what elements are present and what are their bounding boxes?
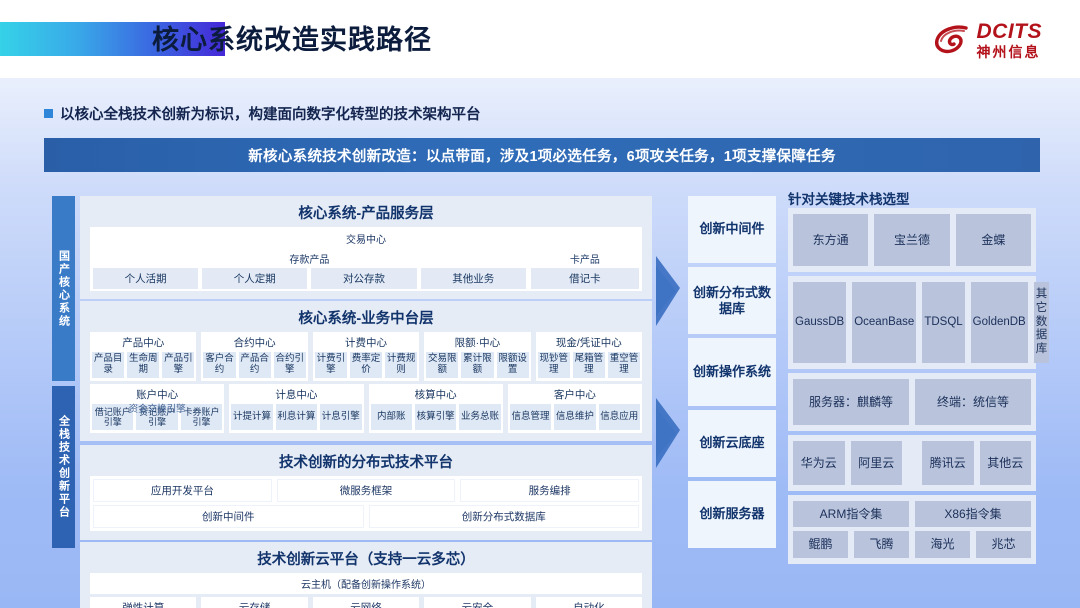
innovation-target-box[interactable]: 创新云底座 xyxy=(688,410,776,477)
tech-stack-cell[interactable]: 飞腾 xyxy=(854,531,909,557)
dist-platform-item[interactable]: 创新中间件 xyxy=(93,505,364,528)
product-service-layer: 核心系统-产品服务层 交易中心 存款产品 个人活期个人定期对公存款其他业务 卡产… xyxy=(80,196,652,299)
business-center-item[interactable]: 产品引擎 xyxy=(162,352,194,378)
business-center[interactable]: 现金/凭证中心现钞管理尾箱管理重空管理 xyxy=(536,332,642,381)
card-item[interactable]: 借记卡 xyxy=(531,268,639,289)
cloud-band: 华为云阿里云腾讯云其他云 xyxy=(788,435,1036,491)
business-center-title: 现金/凭证中心 xyxy=(538,334,640,352)
innovation-target-box[interactable]: 创新操作系统 xyxy=(688,338,776,405)
business-center-item[interactable]: 内部账 xyxy=(371,404,412,430)
business-center-item[interactable]: 核算引擎 xyxy=(415,404,456,430)
tech-stack-cell[interactable]: 鲲鹏 xyxy=(793,531,848,557)
middleware-band: 东方通宝兰德金蝶 xyxy=(788,208,1036,272)
flow-arrow-bottom xyxy=(654,392,690,474)
deposit-item[interactable]: 个人活期 xyxy=(93,268,198,289)
logo-en-text: DCITS xyxy=(977,21,1043,42)
business-center-item[interactable]: 现钞管理 xyxy=(538,352,570,378)
business-center-item[interactable]: 累计限额 xyxy=(461,352,493,378)
business-center-item[interactable]: 信息维护 xyxy=(554,404,595,430)
cloud-row-spacer xyxy=(908,441,916,485)
business-center-item[interactable]: 利息计算 xyxy=(276,404,317,430)
dcits-logo: DCITS 神州信息 xyxy=(933,18,1043,62)
distributed-tech-platform-body: 应用开发平台微服务框架服务编排 创新中间件创新分布式数据库 xyxy=(90,476,642,531)
tech-stack-cell[interactable]: 服务器：麒麟等 xyxy=(793,379,909,425)
tech-stack-cell[interactable]: 阿里云 xyxy=(851,441,903,485)
tech-stack-cell[interactable]: GoldenDB xyxy=(971,282,1028,363)
business-center-row-2: 账户中心借记账户引擎贷记账户引擎卡券账户引擎资金交换引擎计息中心计提计算利息计算… xyxy=(90,384,642,433)
deposit-product-group: 存款产品 个人活期个人定期对公存款其他业务 xyxy=(93,250,526,289)
business-center[interactable]: 计费中心计费引擎费率定价计费规则 xyxy=(313,332,419,381)
business-center[interactable]: 客户中心信息管理信息维护信息应用 xyxy=(508,384,642,433)
database-band: GaussDBOceanBaseTDSQLGoldenDB其它数据库 xyxy=(788,276,1036,369)
business-center-item[interactable]: 重空管理 xyxy=(608,352,640,378)
business-middle-layer-title: 核心系统-业务中台层 xyxy=(80,304,652,332)
business-middle-layer: 核心系统-业务中台层 产品中心产品目录生命周期产品引擎合约中心客户合约产品合约合… xyxy=(80,301,652,441)
business-center-item[interactable]: 合约引擎 xyxy=(274,352,306,378)
tech-stack-selection-column: 东方通宝兰德金蝶 GaussDBOceanBaseTDSQLGoldenDB其它… xyxy=(788,208,1036,548)
tech-stack-cell[interactable]: 宝兰德 xyxy=(874,214,949,266)
tech-stack-cell[interactable]: 华为云 xyxy=(793,441,845,485)
tech-stack-cell[interactable]: ARM指令集 xyxy=(793,501,909,527)
business-center-item[interactable]: 计提计算 xyxy=(231,404,272,430)
business-center-item[interactable]: 产品目录 xyxy=(92,352,124,378)
cloud-platform-section: 技术创新云平台（支持一云多芯） 云主机（配备创新操作系统） 弹性计算云存储云网络… xyxy=(80,542,652,608)
left-architecture-panel: 国产核心系统 全栈技术创新平台 核心系统-产品服务层 交易中心 存款产品 个人活… xyxy=(52,196,652,548)
business-center-title: 计息中心 xyxy=(231,386,361,404)
server-band: ARM指令集X86指令集 鲲鹏飞腾海光兆芯 xyxy=(788,495,1036,564)
section-bullet: 以核心全栈技术创新为标识，构建面向数字化转型的技术架构平台 xyxy=(44,103,481,124)
card-group-title: 卡产品 xyxy=(531,250,639,268)
business-center-item[interactable]: 计费引擎 xyxy=(315,352,347,378)
business-center-item[interactable]: 限额设置 xyxy=(497,352,529,378)
innovation-target-box[interactable]: 创新中间件 xyxy=(688,196,776,263)
innovation-targets-column: 创新中间件创新分布式数据库创新操作系统创新云底座创新服务器 xyxy=(688,196,776,548)
cloud-item[interactable]: 云安全 xyxy=(424,597,530,608)
distributed-tech-platform-title: 技术创新的分布式技术平台 xyxy=(80,448,652,476)
swoosh-icon xyxy=(933,21,971,59)
business-center-item[interactable]: 卡券账户引擎 xyxy=(181,404,222,430)
cloud-platform-title: 技术创新云平台（支持一云多芯） xyxy=(80,545,652,573)
business-center-item[interactable]: 尾箱管理 xyxy=(573,352,605,378)
os-band: 服务器：麒麟等终端：统信等 xyxy=(788,373,1036,431)
business-center-title: 限额·中心 xyxy=(426,334,528,352)
tech-stack-cell[interactable]: OceanBase xyxy=(852,282,916,363)
banner-text: 新核心系统技术创新改造：以点带面，涉及1项必选任务，6项攻关任务，1项支撑保障任… xyxy=(248,145,836,166)
business-center-title: 计费中心 xyxy=(315,334,417,352)
page-header: 核心系统改造实践路径 DCITS 神州信息 xyxy=(0,0,1080,78)
sidebar-label-fullstack-platform: 全栈技术创新平台 xyxy=(52,386,75,548)
business-center[interactable]: 产品中心产品目录生命周期产品引擎 xyxy=(90,332,196,381)
deposit-group-title: 存款产品 xyxy=(93,250,526,268)
card-product-group: 卡产品 借记卡 xyxy=(531,250,639,289)
tech-stack-cell[interactable]: 腾讯云 xyxy=(922,441,974,485)
business-center-item[interactable]: 信息应用 xyxy=(599,404,640,430)
sidebar-label-core-system: 国产核心系统 xyxy=(52,196,75,381)
cloud-item[interactable]: 弹性计算 xyxy=(90,597,196,608)
deposit-item[interactable]: 个人定期 xyxy=(202,268,307,289)
deposit-item[interactable]: 其他业务 xyxy=(421,268,526,289)
dist-platform-item[interactable]: 服务编排 xyxy=(460,479,639,502)
sidebar-label-core-system-text: 国产核心系统 xyxy=(56,250,72,328)
business-center[interactable]: 计息中心计提计算利息计算计息引擎 xyxy=(229,384,363,433)
tech-stack-cell[interactable]: 金蝶 xyxy=(956,214,1031,266)
business-center-item[interactable]: 生命周期 xyxy=(127,352,159,378)
business-center-title: 核算中心 xyxy=(371,386,501,404)
business-center[interactable]: 限额·中心交易限额累计限额限额设置 xyxy=(424,332,530,381)
tech-stack-cell[interactable]: TDSQL xyxy=(922,282,964,363)
tech-stack-cell[interactable]: 其它数据库 xyxy=(1034,282,1050,363)
tech-stack-cell[interactable]: 兆芯 xyxy=(976,531,1031,557)
business-center[interactable]: 核算中心内部账核算引擎业务总账 xyxy=(369,384,503,433)
business-center-item[interactable]: 客户合约 xyxy=(203,352,235,378)
business-center-item[interactable]: 借记账户引擎 xyxy=(92,404,133,430)
dist-platform-item[interactable]: 微服务框架 xyxy=(277,479,456,502)
dist-platform-item[interactable]: 创新分布式数据库 xyxy=(369,505,640,528)
tech-stack-cell[interactable]: 终端：统信等 xyxy=(915,379,1031,425)
innovation-target-box[interactable]: 创新分布式数据库 xyxy=(688,267,776,334)
deposit-item[interactable]: 对公存款 xyxy=(311,268,416,289)
business-center-title: 客户中心 xyxy=(510,386,640,404)
business-center-title: 账户中心 xyxy=(92,386,222,404)
cloud-item[interactable]: 云网络 xyxy=(313,597,419,608)
business-center-item[interactable]: 计息引擎 xyxy=(320,404,361,430)
business-center-item[interactable]: 业务总账 xyxy=(459,404,500,430)
business-center[interactable]: 合约中心客户合约产品合约合约引擎 xyxy=(201,332,307,381)
tech-stack-cell[interactable]: GaussDB xyxy=(793,282,846,363)
trade-center-label: 交易中心 xyxy=(93,229,639,248)
business-center-item[interactable]: 信息管理 xyxy=(510,404,551,430)
bullet-square-icon xyxy=(44,109,53,118)
cloud-item[interactable]: 自动化 xyxy=(536,597,642,608)
business-center-item[interactable]: 交易限额 xyxy=(426,352,458,378)
innovation-target-box[interactable]: 创新服务器 xyxy=(688,481,776,548)
flow-arrow-top xyxy=(654,250,690,332)
business-center-title: 产品中心 xyxy=(92,334,194,352)
business-center-item[interactable]: 费率定价 xyxy=(350,352,382,378)
business-center-title: 合约中心 xyxy=(203,334,305,352)
logo-cn-text: 神州信息 xyxy=(977,45,1041,59)
page-title: 核心系统改造实践路径 xyxy=(152,18,432,57)
cloud-item[interactable]: 云存储 xyxy=(201,597,307,608)
sidebar-label-fullstack-platform-text: 全栈技术创新平台 xyxy=(56,415,72,519)
business-center-row-1: 产品中心产品目录生命周期产品引擎合约中心客户合约产品合约合约引擎计费中心计费引擎… xyxy=(90,332,642,381)
tech-stack-cell[interactable]: 东方通 xyxy=(793,214,868,266)
product-service-layer-title: 核心系统-产品服务层 xyxy=(80,199,652,227)
business-center-item[interactable]: 产品合约 xyxy=(239,352,271,378)
business-center-item[interactable]: 贷记账户引擎 xyxy=(136,404,177,430)
product-service-body: 交易中心 存款产品 个人活期个人定期对公存款其他业务 卡产品 借记卡 xyxy=(90,227,642,291)
dist-platform-item[interactable]: 应用开发平台 xyxy=(93,479,272,502)
cloud-host-label: 云主机（配备创新操作系统） xyxy=(90,573,642,594)
business-center-item[interactable]: 计费规则 xyxy=(385,352,417,378)
bullet-text: 以核心全栈技术创新为标识，构建面向数字化转型的技术架构平台 xyxy=(60,103,481,124)
tech-stack-cell[interactable]: 其他云 xyxy=(980,441,1032,485)
tech-stack-cell[interactable]: X86指令集 xyxy=(915,501,1031,527)
tech-stack-cell[interactable]: 海光 xyxy=(915,531,970,557)
tech-stack-selection-title: 针对关键技术栈选型 xyxy=(788,188,910,208)
business-center[interactable]: 账户中心借记账户引擎贷记账户引擎卡券账户引擎资金交换引擎 xyxy=(90,384,224,433)
highlight-banner: 新核心系统技术创新改造：以点带面，涉及1项必选任务，6项攻关任务，1项支撑保障任… xyxy=(44,138,1040,172)
distributed-tech-platform: 技术创新的分布式技术平台 应用开发平台微服务框架服务编排 创新中间件创新分布式数… xyxy=(80,445,652,540)
